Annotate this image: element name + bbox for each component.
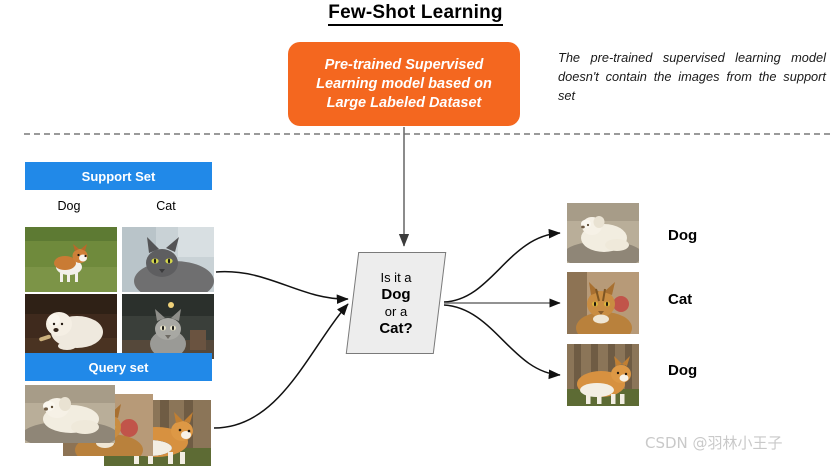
arrow-decision-to-output-0 [444, 233, 560, 302]
query-image-white-dog [25, 385, 115, 443]
arrow-support-to-decision [216, 272, 348, 299]
white-dog-photo [25, 385, 115, 443]
arrow-decision-to-output-2 [444, 305, 560, 375]
watermark: CSDN @羽林小王子 [645, 432, 783, 453]
arrow-query-to-decision [214, 304, 348, 428]
diagram-canvas: Few-Shot Learning Pre-trained Supervised… [0, 0, 831, 466]
